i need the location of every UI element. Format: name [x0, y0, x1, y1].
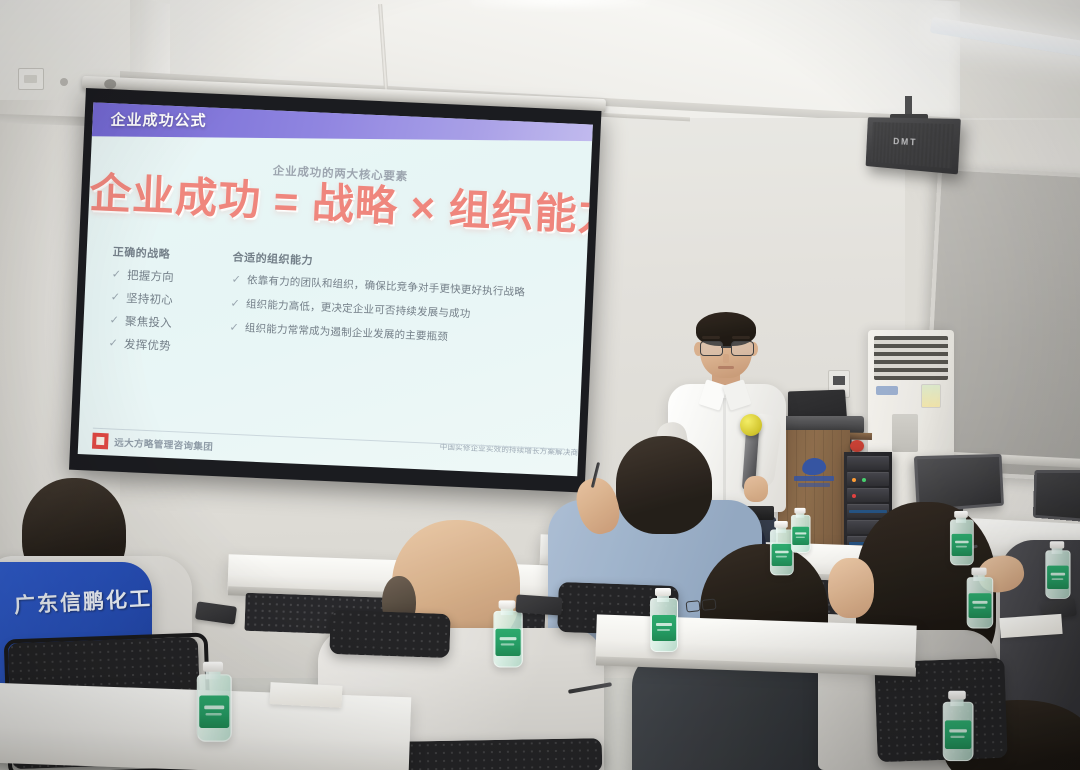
bottle-body: [967, 577, 994, 628]
bottle-label: [969, 593, 992, 618]
presenter-eyebrow-right: [732, 336, 750, 339]
bottle-cap: [971, 568, 986, 576]
check-icon: ✓: [109, 314, 119, 328]
bullet-text: 依靠有力的团队和组织，确保比竞争对手更快更好执行战略: [247, 274, 526, 299]
list-item: ✓ 组织能力常常成为遏制企业发展的主要瓶颈: [229, 321, 569, 350]
water-bottle[interactable]: [967, 570, 992, 629]
podium-logo-icon: [794, 458, 834, 488]
water-bottle[interactable]: [770, 523, 792, 576]
bottle-cap: [499, 600, 516, 608]
presentation-slide: 企业成功公式 企业成功的两大核心要素 企业成功 = 战略 × 组织能力 正确的战…: [78, 102, 593, 476]
podium-logo-text-2: [798, 483, 830, 487]
podium-logo-mark: [801, 457, 827, 476]
ceiling-light-glow: [470, 0, 650, 10]
presenter-shirt-placket: [723, 398, 726, 508]
eyeglasses-icon: [700, 341, 752, 354]
bottle-cap: [774, 521, 788, 528]
presenter-mouth: [718, 366, 734, 369]
presenter-hand: [744, 476, 768, 502]
brand-logo-icon: [92, 433, 109, 450]
bullet-text: 组织能力高低，更决定企业可否持续发展与成功: [246, 298, 471, 321]
check-icon: ✓: [231, 274, 241, 288]
eyeglasses-on-table[interactable]: [686, 598, 717, 611]
list-item: ✓ 依靠有力的团队和组织，确保比竞争对手更快更好执行战略: [231, 274, 571, 303]
slide-footer-brand: 远大方略管理咨询集团: [92, 433, 214, 454]
check-icon: ✓: [229, 321, 239, 335]
ac-energy-badge: [921, 384, 941, 408]
rack-red-knob[interactable]: [850, 440, 864, 452]
bottle-label: [792, 527, 809, 545]
bottle-body: [650, 598, 678, 652]
ac-brand-logo: [876, 386, 898, 395]
podium-logo-text-1: [794, 476, 834, 481]
bottle-body: [943, 702, 974, 761]
ac-control-panel[interactable]: [892, 414, 918, 452]
chair: [329, 610, 450, 658]
list-item: ✓ 把握方向: [111, 268, 216, 287]
check-icon: ✓: [110, 291, 120, 305]
water-bottle[interactable]: [197, 664, 230, 742]
bottle-label: [945, 720, 971, 749]
table-monitor-secondary: [1033, 470, 1080, 523]
list-item: ✓ 组织能力高低，更决定企业可否持续发展与成功: [230, 297, 570, 326]
chair: [392, 738, 603, 770]
rack-display: [849, 510, 887, 513]
sensor-icon: [60, 78, 68, 86]
paper-note[interactable]: [269, 682, 342, 708]
bullet-text: 组织能力常常成为遏制企业发展的主要瓶颈: [245, 322, 449, 344]
presenter-eyebrow-left: [702, 336, 720, 339]
bullet-text: 把握方向: [127, 269, 174, 285]
slide-column-strategy: 正确的战略 ✓ 把握方向 ✓ 坚持初心 ✓ 聚焦投入: [108, 243, 217, 364]
bottle-label: [772, 544, 792, 566]
water-bottle[interactable]: [650, 590, 676, 652]
bottle-label: [495, 629, 520, 656]
glasses-bridge: [721, 346, 731, 348]
list-item: ✓ 聚焦投入: [109, 314, 214, 333]
bottle-cap: [203, 662, 223, 672]
bottle-cap: [1050, 541, 1064, 548]
bottle-cap: [794, 508, 805, 514]
status-led: [862, 478, 866, 482]
status-led: [852, 478, 856, 482]
attendee-hand: [828, 558, 874, 618]
list-item: ✓ 坚持初心: [110, 291, 215, 310]
bullet-text: 聚焦投入: [125, 315, 172, 331]
water-bottle[interactable]: [791, 509, 809, 552]
glasses-lens-right: [731, 341, 754, 356]
water-bottle[interactable]: [1045, 543, 1068, 599]
bottle-cap: [655, 588, 671, 596]
glasses-lens-left: [700, 341, 723, 356]
ceiling-speaker: DMT: [866, 117, 961, 174]
presenter-nose: [723, 354, 729, 363]
bottle-label: [1047, 566, 1069, 589]
check-icon: ✓: [230, 297, 240, 311]
slide-column-capability: 合适的组织能力 ✓ 依靠有力的团队和组织，确保比竞争对手更快更好执行战略 ✓ 组…: [228, 249, 573, 381]
check-icon: ✓: [108, 337, 118, 351]
projection-screen: 企业成功公式 企业成功的两大核心要素 企业成功 = 战略 × 组织能力 正确的战…: [68, 88, 601, 511]
slide-columns: 正确的战略 ✓ 把握方向 ✓ 坚持初心 ✓ 聚焦投入: [108, 243, 573, 380]
bottle-body: [493, 611, 522, 668]
smartphone[interactable]: [515, 594, 562, 615]
water-bottle[interactable]: [950, 513, 972, 566]
seminar-room-photo: DMT 企业成功公式 企业成功的两大核心要素 企业成功 = 战略 × 组织能力 …: [0, 0, 1080, 770]
status-led: [852, 494, 856, 498]
bottle-cap: [954, 511, 968, 518]
bullet-text: 坚持初心: [126, 292, 173, 308]
microphone-windscreen-icon: [740, 414, 762, 436]
slide-header-title: 企业成功公式: [110, 109, 207, 131]
ac-vent-grille-icon: [874, 336, 948, 380]
bottle-label: [652, 615, 676, 641]
bottle-cap: [948, 691, 966, 700]
column-heading: 正确的战略: [112, 243, 217, 264]
speaker-brand-label: DMT: [893, 136, 918, 147]
list-item: ✓ 发挥优势: [108, 337, 213, 356]
rack-unit[interactable]: [847, 456, 889, 470]
check-icon: ✓: [111, 268, 121, 282]
water-bottle[interactable]: [943, 693, 972, 761]
wall-socket: [18, 68, 44, 90]
bullet-text: 发挥优势: [124, 338, 171, 354]
bottle-label: [199, 696, 229, 729]
bottle-label: [952, 534, 972, 556]
bottle-body: [1045, 550, 1070, 599]
bottle-body: [791, 515, 811, 553]
screen-border: 企业成功公式 企业成功的两大核心要素 企业成功 = 战略 × 组织能力 正确的战…: [69, 88, 601, 493]
bottle-body: [197, 674, 232, 742]
attendee-head: [616, 436, 712, 534]
brand-name: 远大方略管理咨询集团: [114, 435, 214, 453]
bottle-body: [950, 519, 974, 565]
